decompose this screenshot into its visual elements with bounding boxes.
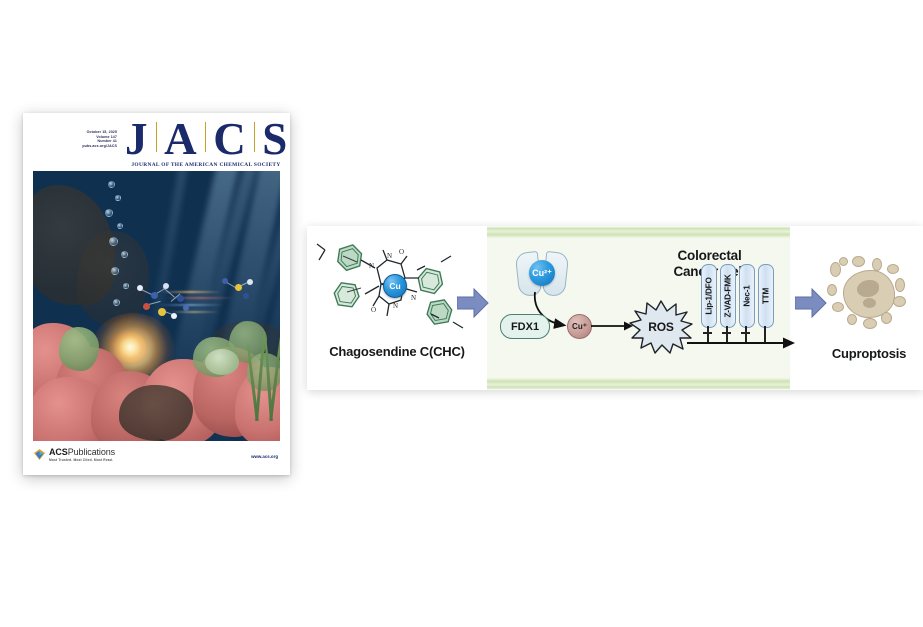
svg-text:N: N <box>393 302 398 310</box>
inhibitor-label: Lip-1/DFO <box>704 277 713 314</box>
svg-text:N: N <box>411 294 416 302</box>
issue-url: pubs.acs.org/JACS <box>55 144 117 149</box>
coral-shadowed <box>119 385 193 441</box>
jacs-letter-j: J <box>121 117 153 162</box>
acs-logotype: ACSPublications Most Trusted. Most Cited… <box>49 448 115 462</box>
membrane-bleb <box>832 302 844 312</box>
ros-burst: ROS <box>629 300 693 354</box>
journal-masthead: October 15, 2025 Volume 147 Number 41 pu… <box>33 122 280 174</box>
copper-center-label: Cu <box>383 274 407 298</box>
jacs-letter-c: C <box>209 117 251 162</box>
cell-vacuole <box>863 298 876 308</box>
membrane-bleb <box>887 264 899 274</box>
cu2plus-ion: Cu²⁺ <box>529 260 555 286</box>
jacs-wordmark: J A C S <box>121 117 292 162</box>
jacs-divider-3 <box>254 122 256 152</box>
inhibition-bar-icon <box>741 332 750 334</box>
jacs-letter-a: A <box>160 117 202 162</box>
flow-arrow-2-icon <box>795 288 827 318</box>
inhibitor-capsule[interactable]: TTM <box>758 264 774 328</box>
svg-text:O: O <box>371 306 376 314</box>
journal-cover-card[interactable]: October 15, 2025 Volume 147 Number 41 pu… <box>23 113 290 475</box>
inhibition-bar-icon <box>722 332 731 334</box>
acs-name-bold: ACS <box>49 447 68 457</box>
issue-metadata: October 15, 2025 Volume 147 Number 41 pu… <box>55 130 117 148</box>
inhibitor-capsule[interactable]: Z-VAD-FMK <box>720 264 736 328</box>
fdx1-enzyme: FDX1 <box>500 314 550 339</box>
inhibitor-capsule[interactable]: Lip-1/DFO <box>701 264 717 328</box>
outcome-label: Cuproptosis <box>813 346 923 361</box>
journal-cover-inner: October 15, 2025 Volume 147 Number 41 pu… <box>23 113 290 475</box>
membrane-bleb <box>895 278 905 292</box>
acs-name-line: ACSPublications <box>49 448 115 457</box>
acs-publications-logo[interactable]: ACSPublications Most Trusted. Most Cited… <box>33 448 115 462</box>
jacs-letter-s: S <box>258 117 292 162</box>
jacs-divider-1 <box>156 122 158 152</box>
svg-text:N: N <box>387 252 392 260</box>
membrane-bleb <box>852 256 865 267</box>
ros-label: ROS <box>648 320 673 334</box>
inhibitor-capsule[interactable]: Nec-1 <box>739 264 755 328</box>
coral-foreground-layer <box>33 171 280 441</box>
cu2plus-label: Cu²⁺ <box>532 268 552 279</box>
acs-website-link[interactable]: www.acs.org <box>251 454 278 459</box>
jacs-divider-2 <box>205 122 207 152</box>
membrane-bleb <box>827 284 837 296</box>
svg-text:O: O <box>399 248 404 256</box>
svg-text:N: N <box>369 262 374 270</box>
cover-footer: ACSPublications Most Trusted. Most Cited… <box>33 447 280 469</box>
acs-diamond-icon <box>33 448 46 461</box>
membrane-bleb <box>847 314 857 325</box>
mechanism-flow-diagram: O O N N N N Cu Chagosendine C( <box>307 226 923 390</box>
cu-symbol: Cu <box>389 281 400 291</box>
compound-name-label: Chagosendine C(CHC) <box>307 344 487 359</box>
inhibitor-label: TTM <box>761 288 770 304</box>
membrane-bleb <box>863 318 877 329</box>
acs-name-light: Publications <box>68 447 115 457</box>
cu1plus-ion: Cu⁺ <box>567 314 592 339</box>
screenshot-canvas: October 15, 2025 Volume 147 Number 41 pu… <box>0 0 923 627</box>
cu1plus-label: Cu⁺ <box>572 322 587 331</box>
chagosendine-structure: O O N N N N Cu <box>313 234 481 346</box>
fdx1-label: FDX1 <box>511 321 539 333</box>
inhibitor-label: Nec-1 <box>742 285 751 306</box>
membrane-bleb <box>881 312 892 324</box>
membrane-bleb <box>839 257 848 266</box>
inhibition-bar-icon <box>703 332 712 334</box>
flow-arrow-1-icon <box>457 288 489 318</box>
acs-tagline: Most Trusted. Most Cited. Most Read. <box>49 459 115 462</box>
toc-graphic-panel[interactable]: O O N N N N Cu Chagosendine C( <box>307 226 923 390</box>
membrane-bleb <box>893 296 906 307</box>
cover-artwork <box>33 171 280 441</box>
cell-interior: Colorectal Cancer Cell Cu²⁺ <box>487 226 790 390</box>
inhibitor-label: Z-VAD-FMK <box>723 274 732 317</box>
cell-title-line-1: Colorectal <box>637 248 782 264</box>
pathway-arrow-icon <box>687 336 797 350</box>
dying-cell-illustration <box>827 256 909 334</box>
coral-dome <box>205 349 239 375</box>
journal-subtitle: JOURNAL OF THE AMERICAN CHEMICAL SOCIETY <box>121 162 291 168</box>
membrane-bleb <box>872 258 882 271</box>
coral-green-cluster <box>59 327 99 371</box>
